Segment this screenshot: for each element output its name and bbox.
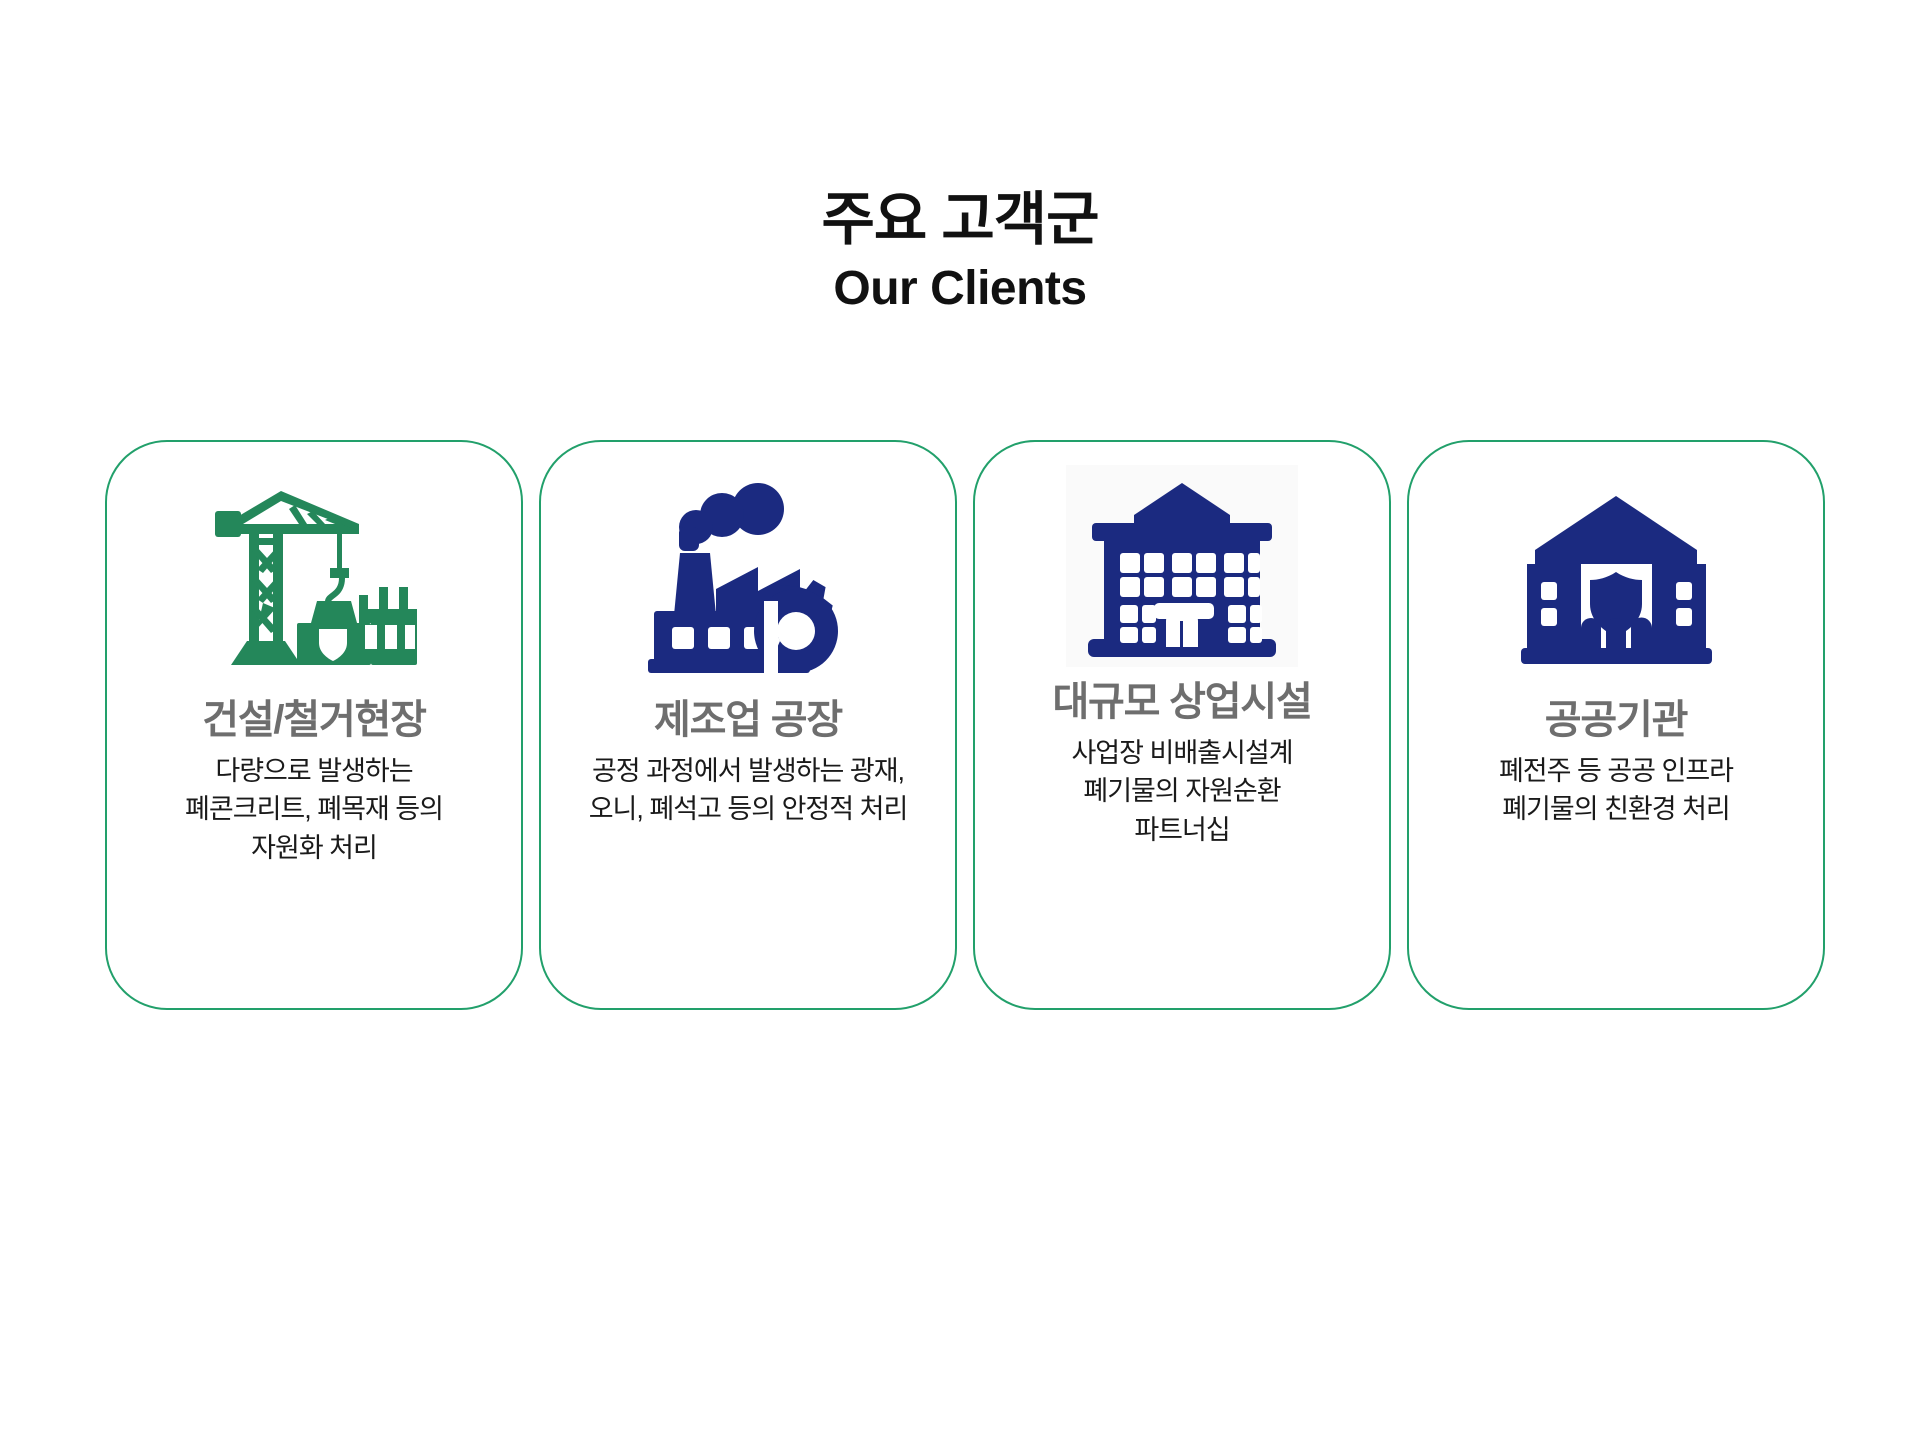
card-description: 다량으로 발생하는 폐콘크리트, 폐목재 등의 자원화 처리: [185, 752, 443, 867]
card-title: 건설/철거현장: [202, 698, 426, 742]
card-title: 대규모 상업시설: [1052, 680, 1311, 724]
card-description-line: 폐전주 등 공공 인프라: [1499, 752, 1733, 790]
slide-root: 주요 고객군 Our Clients: [0, 0, 1920, 1440]
page-title-korean: 주요 고객군: [0, 190, 1920, 251]
card-description-line: 다량으로 발생하는: [185, 752, 443, 790]
card-description-line: 폐기물의 친환경 처리: [1499, 790, 1733, 828]
card-description-line: 파트너십: [1071, 811, 1292, 849]
card-description: 공정 과정에서 발생하는 광재, 오니, 폐석고 등의 안정적 처리: [589, 752, 908, 829]
card-description-line: 폐콘크리트, 폐목재 등의: [185, 790, 443, 828]
card-description-line: 공정 과정에서 발생하는 광재,: [589, 752, 908, 790]
card-description-line: 오니, 폐석고 등의 안정적 처리: [589, 790, 908, 828]
commercial-building-icon-wrapper: [975, 442, 1389, 680]
card-description: 사업장 비배출시설계 폐기물의 자원순환 파트너십: [1071, 734, 1292, 849]
commercial-building-icon: [1082, 471, 1282, 661]
card-description: 폐전주 등 공공 인프라 폐기물의 친환경 처리: [1499, 752, 1733, 829]
client-card-row: 건설/철거현장 다량으로 발생하는 폐콘크리트, 폐목재 등의 자원화 처리: [105, 440, 1825, 1020]
client-card-public-institution[interactable]: 공공기관 폐전주 등 공공 인프라 폐기물의 친환경 처리: [1407, 440, 1825, 1010]
icon-background-plate: [1066, 465, 1298, 667]
client-card-commercial[interactable]: 대규모 상업시설 사업장 비배출시설계 폐기물의 자원순환 파트너십: [973, 440, 1391, 1010]
card-title: 제조업 공장: [654, 698, 842, 742]
card-description-line: 사업장 비배출시설계: [1071, 734, 1292, 772]
client-card-factory[interactable]: 제조업 공장 공정 과정에서 발생하는 광재, 오니, 폐석고 등의 안정적 처…: [539, 440, 957, 1010]
construction-crane-icon: [107, 442, 521, 692]
public-institution-shield-icon: [1409, 442, 1823, 692]
card-description-line: 폐기물의 자원순환: [1071, 772, 1292, 810]
page-title-english: Our Clients: [0, 261, 1920, 316]
factory-gear-icon: [541, 442, 955, 692]
slide-header: 주요 고객군 Our Clients: [0, 190, 1920, 316]
client-card-construction[interactable]: 건설/철거현장 다량으로 발생하는 폐콘크리트, 폐목재 등의 자원화 처리: [105, 440, 523, 1010]
card-description-line: 자원화 처리: [185, 829, 443, 867]
card-title: 공공기관: [1545, 698, 1687, 742]
